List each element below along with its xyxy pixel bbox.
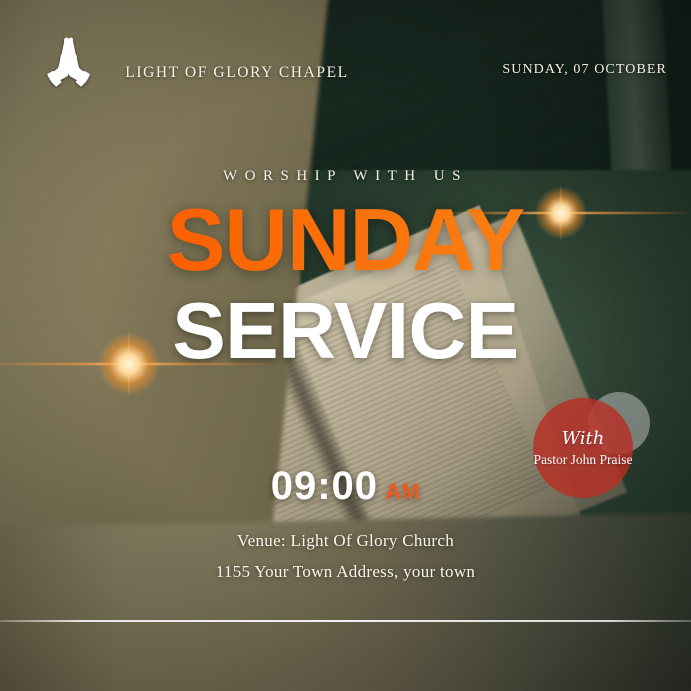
venue-line-1: Venue: Light Of Glory Church: [0, 531, 691, 551]
footer: MORE INFO: + 1 890 234 2345 🐦 You Tube @…: [0, 622, 691, 691]
venue-line-2: 1155 Your Town Address, your town: [0, 562, 691, 582]
time-meridiem: AM: [385, 479, 420, 504]
brand-name: LIGHT OF GLORY CHAPEL: [112, 60, 362, 86]
title-line-sunday: SUNDAY: [0, 194, 691, 286]
eyebrow-text: WORSHIP WITH US: [0, 168, 691, 185]
service-time: 09:00AM: [0, 464, 691, 509]
praying-hands-icon: 🙏: [40, 31, 96, 93]
title-line-service: SERVICE: [0, 288, 691, 374]
badge-with-label: With: [562, 429, 605, 449]
header: 🙏 LIGHT OF GLORY CHAPEL SUNDAY, 07 OCTOB…: [0, 0, 691, 120]
time-value: 09:00: [271, 464, 378, 508]
flyer-canvas: 🙏 LIGHT OF GLORY CHAPEL SUNDAY, 07 OCTOB…: [0, 0, 691, 691]
header-date: SUNDAY, 07 OCTOBER: [502, 62, 667, 78]
